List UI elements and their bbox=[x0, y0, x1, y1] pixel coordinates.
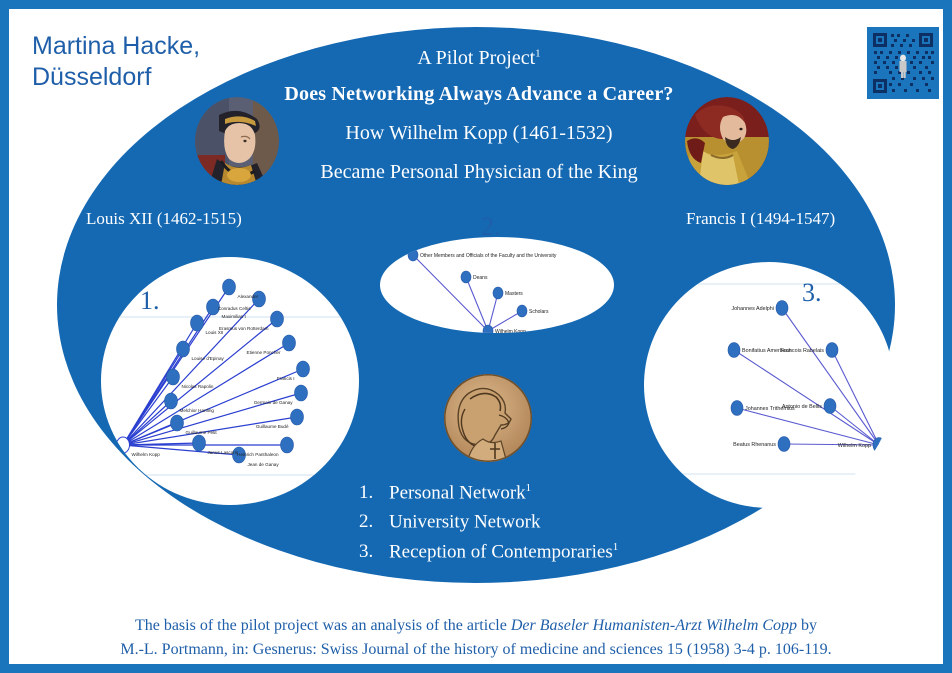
network-node[interactable] bbox=[778, 437, 790, 452]
network-node[interactable] bbox=[297, 361, 310, 377]
list-item-text: Personal Network bbox=[389, 482, 526, 503]
network-node-label: Nicolas Rapolin bbox=[182, 384, 214, 389]
network-node[interactable] bbox=[291, 409, 304, 425]
list-item-number: 3. bbox=[359, 541, 389, 563]
list-item-label: University Network bbox=[389, 511, 540, 533]
network-edge bbox=[488, 311, 522, 331]
medallion-wilhelm-kopp bbox=[439, 369, 537, 467]
portrait-francis-i bbox=[685, 97, 769, 185]
source-article-title: Der Baseler Humanisten-Arzt Wilhelm Copp bbox=[511, 617, 797, 634]
network-node[interactable] bbox=[191, 315, 204, 331]
network-1-number: 1. bbox=[140, 286, 160, 316]
network-edge bbox=[466, 277, 488, 331]
network-node-label: Heinrich Panthaleon bbox=[237, 452, 279, 457]
network-edge bbox=[832, 350, 879, 445]
network-node-label: Alexander bbox=[238, 294, 259, 299]
network-node[interactable] bbox=[776, 301, 788, 316]
network-node[interactable] bbox=[826, 343, 838, 358]
network-node[interactable] bbox=[483, 325, 493, 333]
list-item-label: Personal Network1 bbox=[389, 482, 531, 504]
network-node[interactable] bbox=[295, 385, 308, 401]
network-edge bbox=[782, 308, 879, 445]
network-node-label: Germain de Ganay bbox=[254, 400, 294, 405]
network-node-label: Wilhelm Kopp bbox=[495, 329, 526, 333]
network-node[interactable] bbox=[731, 401, 743, 416]
network-node-label: Conradus Celtis bbox=[218, 306, 251, 311]
network-edge bbox=[123, 319, 277, 445]
pilot-project-footnote-marker: 1 bbox=[535, 47, 541, 59]
network-node-label: Etienne Poncher bbox=[247, 350, 281, 355]
network-legend-list: 1. Personal Network1 2. University Netwo… bbox=[359, 482, 618, 570]
network-node[interactable] bbox=[824, 399, 836, 414]
network-node-label: Antonio de Bellis bbox=[782, 404, 822, 410]
portrait-francis-i-image bbox=[685, 97, 769, 185]
label-louis-xii: Louis XII (1462-1515) bbox=[86, 209, 242, 229]
network-node-label: Francois Rabelais bbox=[781, 348, 824, 354]
list-item-text: Reception of Contemporaries bbox=[389, 541, 613, 562]
network-node-label: Janus Lascaris bbox=[208, 450, 239, 455]
network-node-label: Melchior Hartling bbox=[180, 408, 215, 413]
list-item-label: Reception of Contemporaries1 bbox=[389, 541, 618, 563]
list-item: 3. Reception of Contemporaries1 bbox=[359, 541, 618, 563]
main-title: Does Networking Always Advance a Career? bbox=[179, 83, 779, 106]
network-node[interactable] bbox=[271, 311, 284, 327]
list-item-text: University Network bbox=[389, 512, 540, 533]
network-node[interactable] bbox=[177, 341, 190, 357]
list-item: 2. University Network bbox=[359, 511, 618, 533]
list-item-number: 1. bbox=[359, 482, 389, 504]
network-node-label: Beatus Rhenanus bbox=[733, 442, 776, 448]
network-node-label: Guillaume Petit bbox=[186, 430, 218, 435]
network-2-graph: Other Members and Officials of the Facul… bbox=[380, 237, 614, 333]
network-edge bbox=[737, 408, 879, 445]
network-2-university[interactable]: Other Members and Officials of the Facul… bbox=[380, 237, 614, 333]
network-node[interactable] bbox=[165, 393, 178, 409]
network-node[interactable] bbox=[193, 435, 206, 451]
medallion-image bbox=[439, 369, 537, 467]
list-item-number: 2. bbox=[359, 511, 389, 533]
network-node-label: Johannes Adelphi bbox=[731, 306, 774, 312]
network-node[interactable] bbox=[873, 438, 885, 453]
network-3-graph: Johannes AdelphiBonifatius AmerbachFranc… bbox=[644, 262, 894, 508]
qr-code[interactable] bbox=[867, 27, 939, 99]
list-item-footnote-marker: 1 bbox=[613, 541, 619, 553]
network-node-label: Erasmus von Rotterdam bbox=[219, 326, 269, 331]
source-caption-line1: The basis of the pilot project was an an… bbox=[9, 614, 943, 638]
source-caption-line1-suffix: by bbox=[797, 617, 817, 634]
network-node[interactable] bbox=[283, 335, 296, 351]
network-edge bbox=[413, 255, 488, 331]
poster-frame: Martina Hacke, Düsseldorf bbox=[0, 0, 952, 673]
network-node-label: Louise d'Epinay bbox=[192, 356, 225, 361]
network-edge bbox=[734, 350, 879, 445]
label-francis-i: Francis I (1494-1547) bbox=[686, 209, 835, 229]
network-node[interactable] bbox=[117, 437, 130, 453]
author-affiliation: Martina Hacke, Düsseldorf bbox=[32, 31, 200, 93]
network-node[interactable] bbox=[517, 305, 527, 317]
network-node[interactable] bbox=[223, 279, 236, 295]
network-node-label: Wilhelm Kopp bbox=[132, 452, 161, 457]
network-node[interactable] bbox=[171, 415, 184, 431]
source-caption-line2: M.-L. Portmann, in: Gesnerus: Swiss Jour… bbox=[9, 638, 943, 662]
network-3-number: 3. bbox=[802, 278, 822, 308]
poster-body: Martina Hacke, Düsseldorf bbox=[9, 9, 943, 664]
network-node[interactable] bbox=[493, 287, 503, 299]
network-node-label: Masters bbox=[505, 291, 523, 297]
network-3-reception[interactable]: Johannes AdelphiBonifatius AmerbachFranc… bbox=[644, 262, 894, 508]
network-node-label: Deans bbox=[473, 275, 488, 281]
network-node-label: Francis I bbox=[277, 376, 295, 381]
qr-code-graphic bbox=[867, 27, 939, 99]
subtitle-pilot-project: A Pilot Project1 bbox=[179, 47, 779, 70]
network-node[interactable] bbox=[408, 249, 418, 261]
network-node-label: Other Members and Officials of the Facul… bbox=[420, 253, 557, 259]
network-node-label: Jean de Ganay bbox=[248, 462, 280, 467]
portrait-louis-xii bbox=[195, 97, 279, 185]
source-caption: The basis of the pilot project was an an… bbox=[9, 614, 943, 662]
portrait-louis-xii-image bbox=[195, 97, 279, 185]
network-node[interactable] bbox=[461, 271, 471, 283]
network-node[interactable] bbox=[281, 437, 294, 453]
list-item-footnote-marker: 1 bbox=[526, 482, 532, 494]
network-node-label: Guillaume Budé bbox=[256, 424, 289, 429]
network-node-label: Louis XII bbox=[206, 330, 224, 335]
network-node-label: Maximilian I bbox=[222, 314, 246, 319]
list-item: 1. Personal Network1 bbox=[359, 482, 618, 504]
pilot-project-text: A Pilot Project bbox=[417, 47, 535, 69]
network-node-label: Wilhelm Kopp bbox=[838, 443, 871, 449]
source-caption-line1-prefix: The basis of the pilot project was an an… bbox=[135, 617, 511, 634]
network-node-label: Scholars bbox=[529, 309, 549, 315]
network-node[interactable] bbox=[167, 369, 180, 385]
network-node[interactable] bbox=[728, 343, 740, 358]
network-2-number: 2. bbox=[481, 212, 501, 242]
